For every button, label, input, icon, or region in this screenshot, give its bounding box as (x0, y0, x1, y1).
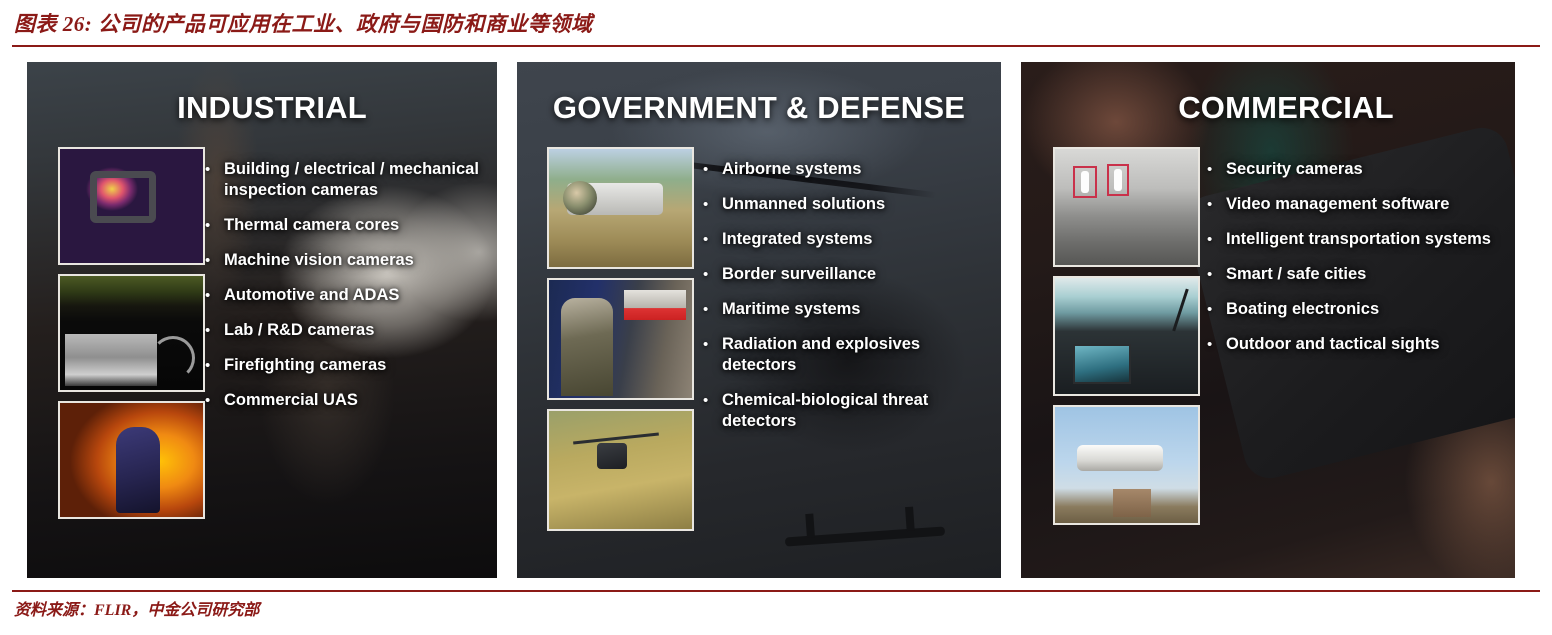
figure-source: 资料来源：FLIR，中金公司研究部 (14, 596, 259, 620)
soldier-equipment-photo (547, 278, 694, 400)
list-item: • Airborne systems (703, 159, 985, 180)
bullet-marker-icon: • (205, 320, 224, 341)
bullet-marker-icon: • (205, 390, 224, 411)
list-item: • Smart / safe cities (1207, 264, 1499, 285)
list-item: • Chemical-biological threat detectors (703, 390, 985, 432)
list-item: • Firefighting cameras (205, 355, 481, 376)
bullet-marker-icon: • (703, 229, 722, 250)
surveillance-optics-photo (547, 147, 694, 269)
list-item: • Lab / R&D cameras (205, 320, 481, 341)
list-item: • Intelligent transportation systems (1207, 229, 1499, 250)
thermal-imaging-camera-photo (58, 147, 205, 265)
list-item: • Boating electronics (1207, 299, 1499, 320)
bullet-marker-icon: • (205, 215, 224, 236)
list-item: • Radiation and explosives detectors (703, 334, 985, 376)
bullet-marker-icon: • (1207, 194, 1226, 215)
list-item: • Unmanned solutions (703, 194, 985, 215)
government-bullet-list: • Airborne systems • Unmanned solutions … (695, 147, 1001, 531)
firefighter-thermal-photo (58, 401, 205, 519)
list-item: • Machine vision cameras (205, 250, 481, 271)
page-title: 图表 26: 公司的产品可应用在工业、政府与国防和商业等领域 (14, 8, 593, 38)
panel-government-defense: GOVERNMENT & DEFENSE • Airborne systems … (517, 62, 1001, 578)
bullet-marker-icon: • (703, 159, 722, 180)
list-item: • Border surveillance (703, 264, 985, 285)
panel-commercial: COMMERCIAL • Security cameras (1021, 62, 1515, 578)
thermal-person-detection-photo (1053, 147, 1200, 267)
commercial-bullet-list: • Security cameras • Video management so… (1199, 147, 1515, 525)
bullet-marker-icon: • (205, 285, 224, 306)
thermal-figure (1081, 171, 1089, 193)
list-item: • Video management software (1207, 194, 1499, 215)
bullet-marker-icon: • (1207, 229, 1226, 250)
list-item: • Automotive and ADAS (205, 285, 481, 306)
list-item: • Security cameras (1207, 159, 1499, 180)
panel-title-industrial: INDUSTRIAL (27, 90, 497, 126)
header-divider (12, 45, 1540, 47)
bullet-marker-icon: • (1207, 299, 1226, 320)
night-vision-driving-photo (58, 274, 205, 392)
panel-title-government-defense: GOVERNMENT & DEFENSE (517, 90, 1001, 126)
commercial-thumbnail-list (1021, 147, 1199, 525)
list-item: • Maritime systems (703, 299, 985, 320)
bullet-marker-icon: • (1207, 159, 1226, 180)
bullet-marker-icon: • (205, 355, 224, 376)
bullet-marker-icon: • (703, 264, 722, 285)
security-camera-photo (1053, 405, 1200, 525)
list-item: • Outdoor and tactical sights (1207, 334, 1499, 355)
government-thumbnail-list (517, 147, 695, 531)
panel-title-commercial: COMMERCIAL (1021, 90, 1515, 126)
footer-divider (12, 590, 1540, 592)
industrial-bullet-list: • Building / electrical / mechanical ins… (205, 147, 497, 519)
bullet-marker-icon: • (205, 250, 224, 271)
bullet-marker-icon: • (703, 334, 722, 355)
bullet-marker-icon: • (1207, 334, 1226, 355)
list-item: • Building / electrical / mechanical ins… (205, 159, 481, 201)
list-item: • Thermal camera cores (205, 215, 481, 236)
bullet-marker-icon: • (1207, 264, 1226, 285)
industrial-thumbnail-list (27, 147, 205, 519)
panel-band: INDUSTRIAL • Building / electrical / mec… (27, 62, 1525, 578)
micro-drone-photo (547, 409, 694, 531)
list-item: • Integrated systems (703, 229, 985, 250)
list-item: • Commercial UAS (205, 390, 481, 411)
bullet-marker-icon: • (703, 299, 722, 320)
bullet-marker-icon: • (205, 159, 224, 180)
bullet-marker-icon: • (703, 390, 722, 411)
bullet-marker-icon: • (703, 194, 722, 215)
thermal-figure (1114, 169, 1122, 191)
panel-industrial: INDUSTRIAL • Building / electrical / mec… (27, 62, 497, 578)
boat-helm-display-photo (1053, 276, 1200, 396)
figure-header: 图表 26: 公司的产品可应用在工业、政府与国防和商业等领域 (0, 0, 1552, 48)
